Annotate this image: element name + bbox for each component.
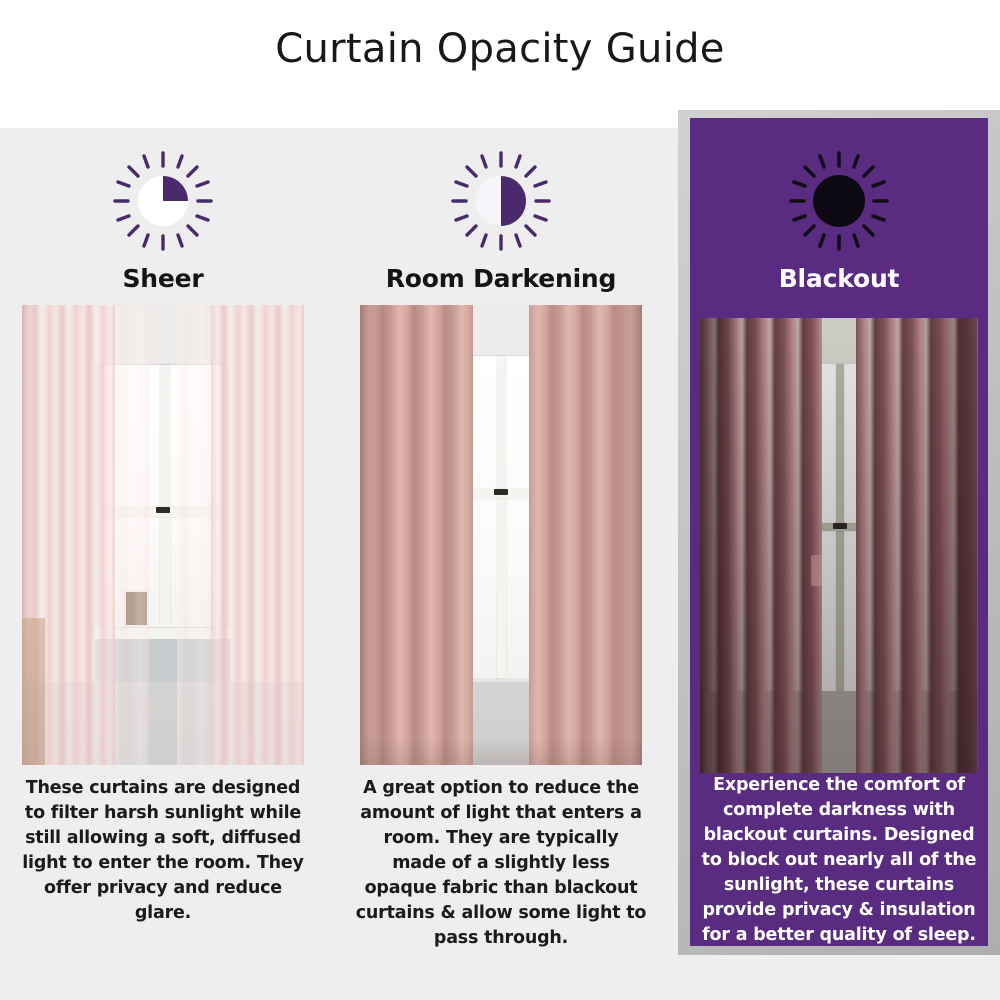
heading-blackout: Blackout <box>678 264 1000 293</box>
caption-room-darkening: A great option to reduce the amount of l… <box>354 776 648 951</box>
column-sheer[interactable]: Sheer Th <box>2 128 324 1000</box>
photo-sheer <box>22 305 304 765</box>
heading-room-darkening: Room Darkening <box>340 264 662 293</box>
blackout-icon-wrap <box>678 146 1000 256</box>
room-darkening-icon-wrap <box>340 146 662 256</box>
caption-sheer: These curtains are designed to filter ha… <box>16 776 310 926</box>
photo-blackout <box>700 318 978 773</box>
heading-sheer: Sheer <box>2 264 324 293</box>
sheer-icon-wrap <box>2 146 324 256</box>
page-title: Curtain Opacity Guide <box>0 26 1000 72</box>
photo-room-darkening <box>360 305 642 765</box>
sun-half-filled-icon <box>449 149 553 253</box>
column-room-darkening[interactable]: Room Darkening A great option to reduce … <box>340 128 662 1000</box>
column-blackout[interactable]: Blackout Experience the comfort of compl… <box>678 128 1000 1000</box>
sun-quarter-filled-icon <box>111 149 215 253</box>
caption-blackout: Experience the comfort of complete darkn… <box>694 773 984 948</box>
sun-fully-filled-icon <box>787 149 891 253</box>
